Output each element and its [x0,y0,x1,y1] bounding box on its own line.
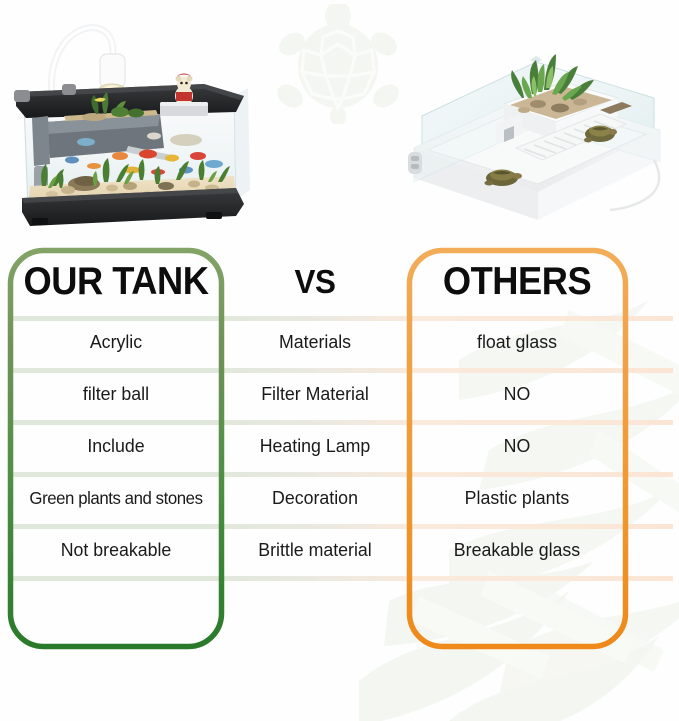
cell-feature-filter-material: Filter Material [229,368,402,420]
column-our-tank: OUR TANK Acrylic filter ball Include Gre… [13,246,219,650]
header-others: OTHERS [419,246,614,318]
cell-feature-heating-lamp: Heating Lamp [229,420,402,472]
cell-ours-materials: Acrylic [17,316,215,368]
feature-comparison-table: OUR TANK Acrylic filter ball Include Gre… [0,246,679,650]
turtle-silhouette-watermark [258,4,418,124]
header-vs: VS [230,246,401,318]
cell-others-decoration: Plastic plants [416,472,618,524]
column-others: OTHERS float glass NO NO Plastic plants … [412,246,622,650]
cell-feature-materials: Materials [229,316,402,368]
cell-others-brittle-material: Breakable glass [416,524,618,576]
header-our-tank: OUR TANK [20,246,212,318]
competitor-turtle-tank-photo [404,52,666,228]
cell-feature-brittle-material: Brittle material [229,524,402,576]
cell-ours-brittle-material: Not breakable [17,524,215,576]
our-turtle-tank-photo [8,14,260,232]
cell-ours-heating-lamp: Include [17,420,215,472]
cell-others-materials: float glass [416,316,618,368]
comparison-infographic: OUR TANK Acrylic filter ball Include Gre… [0,0,679,721]
cell-ours-decoration: Green plants and stones [17,472,215,524]
cell-ours-filter-material: filter ball [17,368,215,420]
cell-feature-decoration: Decoration [229,472,402,524]
column-feature-names: VS Materials Filter Material Heating Lam… [225,246,405,650]
cell-others-heating-lamp: NO [416,420,618,472]
cell-others-filter-material: NO [416,368,618,420]
